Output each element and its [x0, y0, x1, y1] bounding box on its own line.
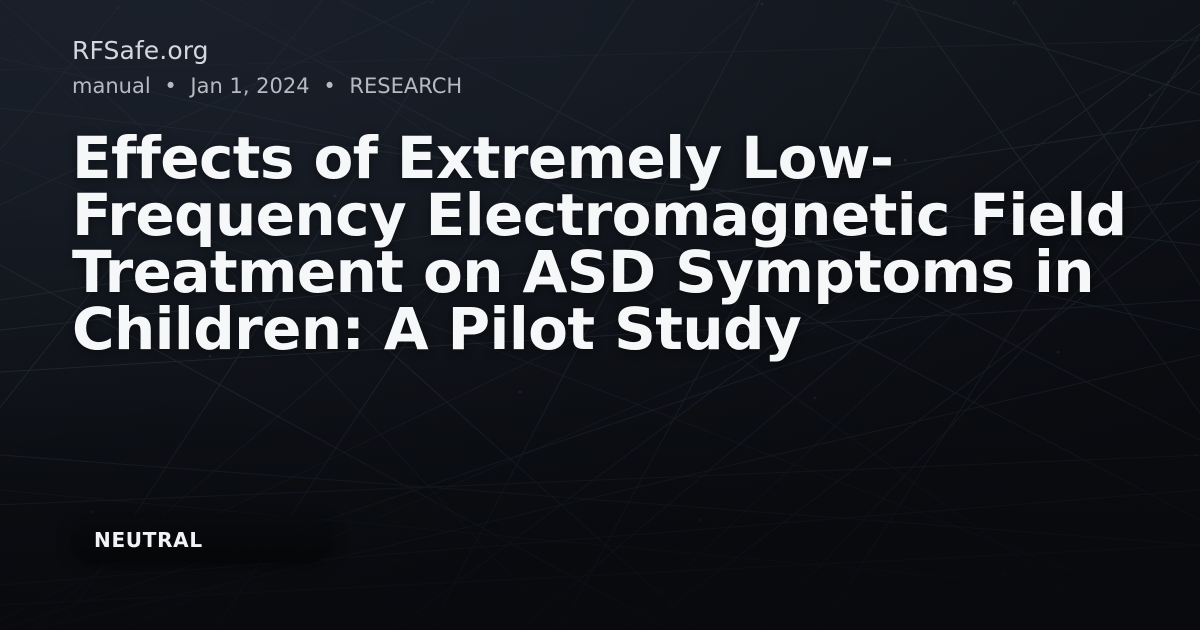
status-badge[interactable]: NEUTRAL: [72, 516, 332, 563]
page-title: Effects of Extremely Low-Frequency Elect…: [72, 130, 1130, 358]
meta-date: Jan 1, 2024: [190, 74, 309, 98]
meta-separator-1: •: [157, 73, 183, 100]
badge-row: NEUTRAL: [72, 516, 332, 563]
meta-separator-2: •: [316, 73, 342, 100]
og-card: RFSafe.org manual • Jan 1, 2024 • RESEAR…: [0, 0, 1200, 630]
meta-line: manual • Jan 1, 2024 • RESEARCH: [72, 73, 1130, 100]
meta-source-type: manual: [72, 74, 151, 98]
meta-category: RESEARCH: [349, 74, 462, 98]
site-name: RFSafe.org: [72, 34, 1130, 68]
status-badge-label: NEUTRAL: [94, 530, 203, 550]
